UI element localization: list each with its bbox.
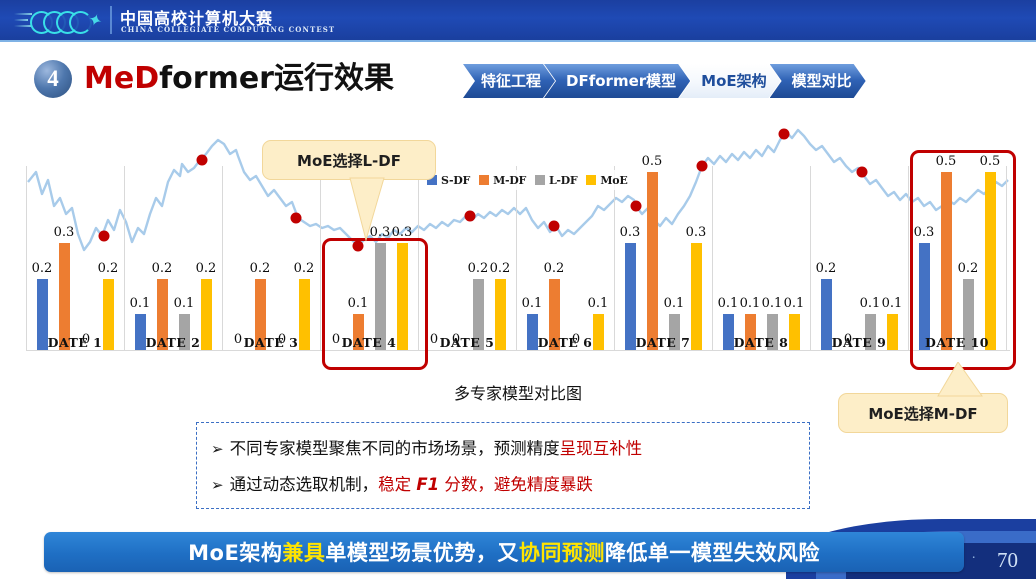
bar-column-moe: 0.1 bbox=[587, 154, 609, 350]
bar-column-moe: 0.2 bbox=[293, 154, 315, 350]
bar-label: 0.1 bbox=[522, 296, 543, 311]
bar-column-moe: 0.2 bbox=[489, 154, 511, 350]
bar-column-s-df: 0.3 bbox=[619, 154, 641, 350]
app-header: ✦ 中国高校计算机大赛 CHINA COLLEGIATE COMPUTING C… bbox=[0, 0, 1036, 42]
bar-column-s-df: 0 bbox=[423, 154, 445, 350]
org-name-en: CHINA COLLEGIATE COMPUTING CONTEST bbox=[121, 25, 335, 34]
bar-label: 0.1 bbox=[882, 296, 903, 311]
footer-dot: · bbox=[971, 551, 976, 567]
page-title: MeDformer运行效果 bbox=[84, 60, 394, 98]
bar-group-bars: 000.20.2 bbox=[418, 154, 516, 350]
category-label: DATE 7 bbox=[614, 335, 712, 350]
bar-column-s-df: 0.1 bbox=[717, 154, 739, 350]
page-title-rest: former运行效果 bbox=[159, 61, 394, 96]
bar-group-bars: 0.20.300.2 bbox=[26, 154, 124, 350]
bar-label: 0.1 bbox=[664, 296, 685, 311]
banner-seg-1: MoE架构 bbox=[188, 537, 282, 567]
bullet-marker-icon-2: ➢ bbox=[211, 476, 224, 494]
bar-label: 0.2 bbox=[196, 261, 217, 276]
chart-bar-groups: 0.20.300.2DATE 10.10.20.10.2DATE 200.200… bbox=[26, 110, 1010, 372]
bar-group-7: 0.30.50.10.3DATE 7 bbox=[614, 132, 712, 350]
bar-group-bars: 0.10.20.10.2 bbox=[124, 154, 222, 350]
bottom-banner: MoE架构兼具单模型场景优势，又协同预测降低单一模型失效风险 bbox=[44, 532, 964, 572]
bullet-marker-icon: ➢ bbox=[211, 440, 224, 458]
bar-column-l-df: 0 bbox=[565, 154, 587, 350]
callout-l-df-text: MoE选择L-DF bbox=[297, 150, 401, 171]
page-title-accent: MeD bbox=[84, 61, 159, 96]
bar-label: 0.3 bbox=[54, 225, 75, 240]
banner-highlight-1: 兼具 bbox=[282, 537, 325, 567]
bar-column-s-df: 0.3 bbox=[913, 154, 935, 350]
category-label: DATE 9 bbox=[810, 335, 908, 350]
section-number-badge: 4 bbox=[34, 60, 72, 98]
bar-column-l-df: 0.1 bbox=[761, 154, 783, 350]
bar-column-l-df: 0.1 bbox=[173, 154, 195, 350]
bar-group-10: 0.30.50.20.5DATE 10 bbox=[908, 132, 1006, 350]
category-label: DATE 8 bbox=[712, 335, 810, 350]
category-label: DATE 6 bbox=[516, 335, 614, 350]
bar-column-s-df: 0.2 bbox=[815, 154, 837, 350]
bar-label: 0.1 bbox=[174, 296, 195, 311]
bar-label: 0.2 bbox=[294, 261, 315, 276]
bar-s-df bbox=[625, 243, 636, 350]
bar-column-m-df: 0.5 bbox=[641, 154, 663, 350]
bar-column-s-df: 0.1 bbox=[521, 154, 543, 350]
bar-column-m-df: 0.5 bbox=[935, 154, 957, 350]
bar-column-moe: 0.2 bbox=[195, 154, 217, 350]
bar-label: 0.2 bbox=[816, 261, 837, 276]
page-number: 70 bbox=[997, 548, 1018, 573]
bar-label: 0.2 bbox=[958, 261, 979, 276]
category-label: DATE 5 bbox=[418, 335, 516, 350]
bar-column-m-df: 0.2 bbox=[249, 154, 271, 350]
bar-column-s-df: 0.1 bbox=[129, 154, 151, 350]
bar-group-2: 0.10.20.10.2DATE 2 bbox=[124, 132, 222, 350]
bar-column-s-df: 0 bbox=[227, 154, 249, 350]
banner-seg-2: 单模型场景优势，又 bbox=[325, 537, 519, 567]
bar-column-m-df: 0 bbox=[837, 154, 859, 350]
bar-group-9: 0.200.10.1DATE 9 bbox=[810, 132, 908, 350]
bar-group-1: 0.20.300.2DATE 1 bbox=[26, 132, 124, 350]
bar-column-m-df: 0 bbox=[445, 154, 467, 350]
bar-column-m-df: 0.2 bbox=[543, 154, 565, 350]
breadcrumb: 特征工程 DFformer模型 MoE架构 模型对比 bbox=[463, 64, 855, 98]
bar-moe bbox=[691, 243, 702, 350]
bar-column-l-df: 0 bbox=[271, 154, 293, 350]
bar-column-moe: 0.1 bbox=[881, 154, 903, 350]
bar-moe bbox=[985, 172, 996, 350]
header-divider bbox=[110, 6, 112, 34]
bar-column-m-df: 0.3 bbox=[53, 154, 75, 350]
bar-l-df bbox=[375, 243, 386, 350]
bar-group-bars: 00.200.2 bbox=[222, 154, 320, 350]
bar-label: 0.1 bbox=[784, 296, 805, 311]
bar-label: 0.1 bbox=[588, 296, 609, 311]
bar-group-bars: 0.30.50.10.3 bbox=[614, 154, 712, 350]
bar-label: 0.3 bbox=[686, 225, 707, 240]
bar-label: 0.2 bbox=[98, 261, 119, 276]
bar-label: 0.2 bbox=[32, 261, 53, 276]
bar-label: 0.1 bbox=[130, 296, 151, 311]
breadcrumb-item-moe-architecture[interactable]: MoE架构 bbox=[679, 64, 780, 98]
breadcrumb-item-model-comparison[interactable]: 模型对比 bbox=[770, 64, 866, 98]
bar-column-l-df: 0 bbox=[75, 154, 97, 350]
bar-label: 0.3 bbox=[914, 225, 935, 240]
bar-label: 0.5 bbox=[936, 154, 957, 169]
banner-seg-3: 降低单一模型失效风险 bbox=[605, 537, 820, 567]
category-label: DATE 3 bbox=[222, 335, 320, 350]
bar-column-l-df: 0.2 bbox=[467, 154, 489, 350]
bar-label: 0.1 bbox=[718, 296, 739, 311]
bar-label: 0.5 bbox=[980, 154, 1001, 169]
bar-label: 0.1 bbox=[740, 296, 761, 311]
bar-label: 0.2 bbox=[468, 261, 489, 276]
bar-group-bars: 0.10.200.1 bbox=[516, 154, 614, 350]
category-label: DATE 1 bbox=[26, 335, 124, 350]
bullet-2-highlight-post: 分数，避免精度暴跌 bbox=[439, 475, 593, 494]
bar-label: 0.3 bbox=[620, 225, 641, 240]
callout-m-df-text: MoE选择M-DF bbox=[868, 403, 977, 424]
bar-label: 0.1 bbox=[762, 296, 783, 311]
category-label: DATE 4 bbox=[320, 335, 418, 350]
callout-moe-selects-l-df: MoE选择L-DF bbox=[262, 140, 436, 180]
bar-label: 0.2 bbox=[152, 261, 173, 276]
bar-column-l-df: 0.1 bbox=[859, 154, 881, 350]
bar-column-moe: 0.5 bbox=[979, 154, 1001, 350]
bar-label: 0.1 bbox=[860, 296, 881, 311]
bar-group-6: 0.10.200.1DATE 6 bbox=[516, 132, 614, 350]
bar-column-moe: 0.3 bbox=[685, 154, 707, 350]
bullet-1-text: 不同专家模型聚焦不同的市场场景，预测精度 bbox=[230, 439, 560, 458]
bar-m-df bbox=[647, 172, 658, 350]
bullet-item-1: ➢不同专家模型聚焦不同的市场场景，预测精度呈现互补性 bbox=[211, 435, 642, 459]
bar-column-moe: 0.1 bbox=[783, 154, 805, 350]
bullet-item-2: ➢通过动态选取机制，稳定 F1 分数，避免精度暴跌 bbox=[211, 471, 593, 495]
bar-label: 0.5 bbox=[642, 154, 663, 169]
breadcrumb-item-dfformer-model[interactable]: DFformer模型 bbox=[544, 64, 690, 98]
bar-moe bbox=[397, 243, 408, 350]
chart-caption: 多专家模型对比图 bbox=[0, 380, 1036, 404]
category-label: DATE 2 bbox=[124, 335, 222, 350]
bar-column-l-df: 0.1 bbox=[663, 154, 685, 350]
bar-group-bars: 0.10.10.10.1 bbox=[712, 154, 810, 350]
bar-column-l-df: 0.2 bbox=[957, 154, 979, 350]
bar-group-8: 0.10.10.10.1DATE 8 bbox=[712, 132, 810, 350]
banner-highlight-2: 协同预测 bbox=[519, 537, 605, 567]
cccc-logo-icon: ✦ bbox=[12, 4, 112, 36]
breadcrumb-item-feature-engineering[interactable]: 特征工程 bbox=[463, 64, 555, 98]
category-label: DATE 10 bbox=[908, 335, 1006, 350]
insight-box: ➢不同专家模型聚焦不同的市场场景，预测精度呈现互补性 ➢通过动态选取机制，稳定 … bbox=[196, 422, 810, 509]
bar-column-m-df: 0.1 bbox=[739, 154, 761, 350]
bar-column-m-df: 0.2 bbox=[151, 154, 173, 350]
bar-column-s-df: 0.2 bbox=[31, 154, 53, 350]
bullet-2-highlight-pre: 稳定 bbox=[378, 475, 416, 494]
bar-label: 0.2 bbox=[544, 261, 565, 276]
bar-m-df bbox=[59, 243, 70, 350]
bar-m-df bbox=[941, 172, 952, 350]
bar-group-bars: 0.30.50.20.5 bbox=[908, 154, 1006, 350]
bar-column-moe: 0.2 bbox=[97, 154, 119, 350]
bar-s-df bbox=[919, 243, 930, 350]
bar-label: 0.1 bbox=[348, 296, 369, 311]
bar-label: 0.2 bbox=[250, 261, 271, 276]
bullet-2-text: 通过动态选取机制， bbox=[230, 475, 379, 494]
bar-group-bars: 0.200.10.1 bbox=[810, 154, 908, 350]
callout-l-df-tail bbox=[340, 176, 400, 242]
bullet-1-highlight: 呈现互补性 bbox=[560, 439, 643, 458]
bar-label: 0.2 bbox=[490, 261, 511, 276]
bullet-2-highlight-f1: F1 bbox=[416, 475, 439, 494]
